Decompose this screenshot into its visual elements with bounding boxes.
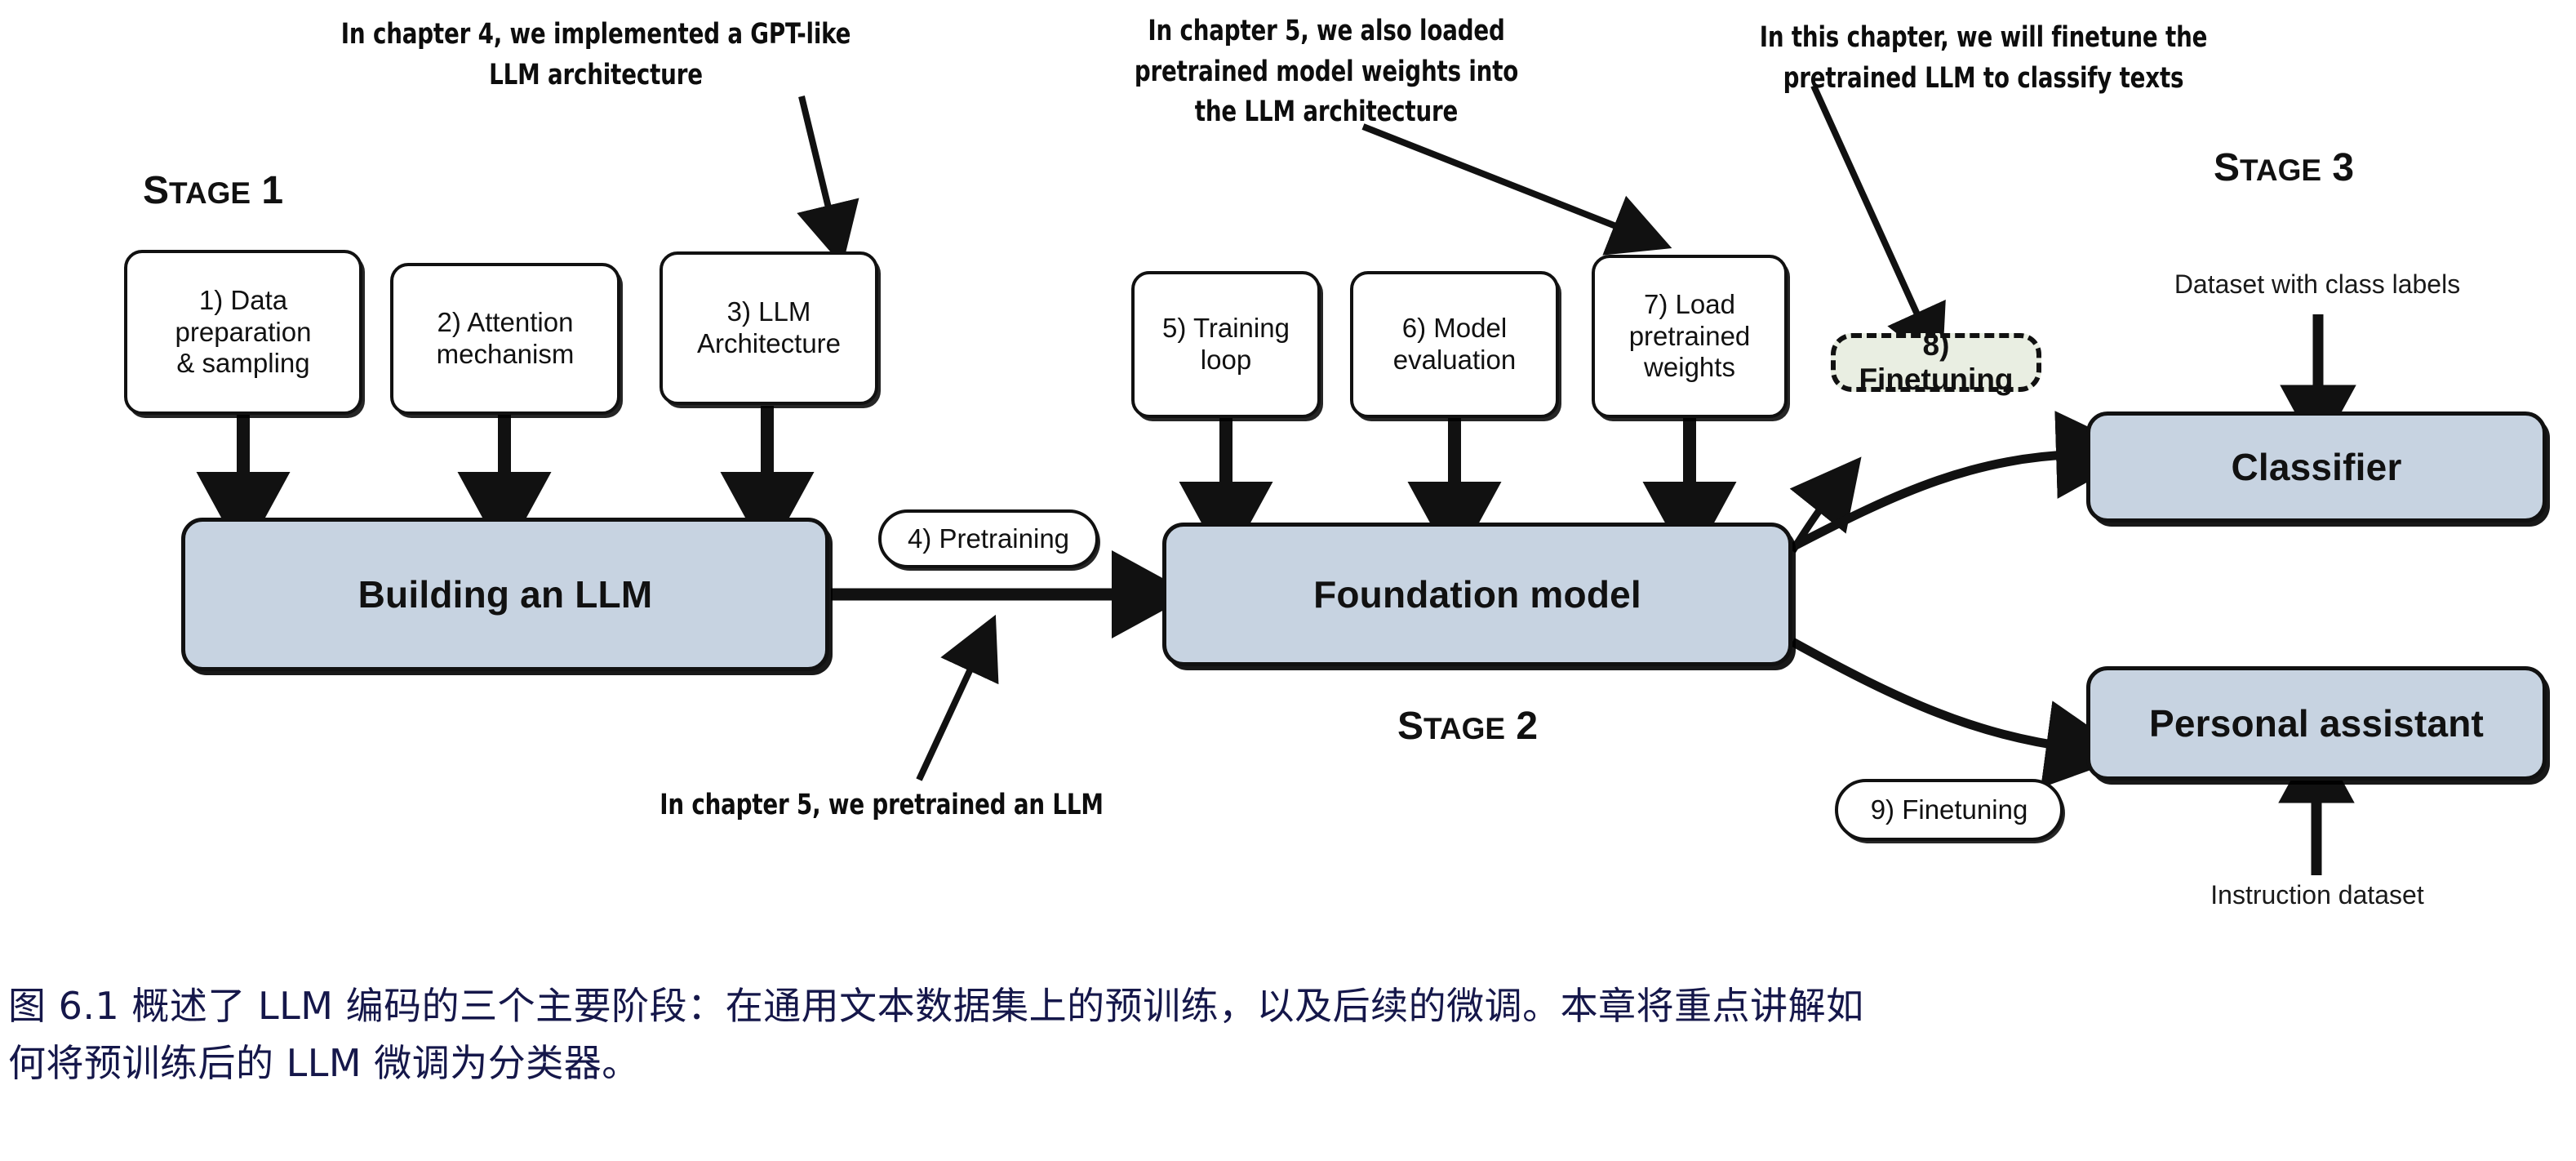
annotation-chapter5-weights-line1: In chapter 5, we also loaded — [1075, 11, 1578, 52]
finetuning-9-badge[interactable]: 9) Finetuning — [1835, 779, 2063, 841]
step-card-training-loop[interactable]: 5) Training loop — [1131, 271, 1321, 418]
step-card-training-loop-line1: 5) Training — [1162, 313, 1290, 345]
blue-box-personal-assistant[interactable]: Personal assistant — [2086, 666, 2547, 781]
blue-box-foundation-model[interactable]: Foundation model — [1162, 523, 1792, 666]
step-card-model-evaluation-line2: evaluation — [1393, 345, 1516, 376]
blue-box-classifier[interactable]: Classifier — [2086, 411, 2547, 523]
step-card-attention-mechanism-line2: mechanism — [437, 339, 575, 371]
annotation-this-chapter-line2: pretrained LLM to classify texts — [1729, 59, 2239, 100]
step-card-load-pretrained-weights-line1: 7) Load — [1644, 289, 1735, 321]
step-card-attention-mechanism-line1: 2) Attention — [437, 307, 574, 339]
stage-label-1-number: 1 — [261, 169, 283, 212]
step-card-load-pretrained-weights[interactable]: 7) Load pretrained weights — [1592, 255, 1788, 418]
annotation-chapter5-weights-line2: pretrained model weights into — [1075, 52, 1578, 93]
step-card-data-preparation-line3: & sampling — [176, 348, 309, 380]
step-card-data-preparation-line2: preparation — [175, 317, 312, 349]
stage-label-2-number: 2 — [1516, 705, 1538, 748]
figure-caption-line2: 何将预训练后的 LLM 微调为分类器。 — [8, 1035, 2555, 1092]
annotation-this-chapter: In this chapter, we will finetune the pr… — [1729, 18, 2239, 99]
figure-caption-line1: 图 6.1 概述了 LLM 编码的三个主要阶段：在通用文本数据集上的预训练，以及… — [8, 978, 2555, 1035]
caption-dataset-class-labels: Dataset with class labels — [2086, 269, 2548, 300]
blue-box-personal-assistant-label: Personal assistant — [2149, 701, 2484, 745]
arrow-foundation-to-finetuning8 — [1792, 494, 1832, 551]
figure-llm-stages-diagram: In chapter 4, we implemented a GPT-like … — [0, 0, 2576, 947]
annotation-chapter4: In chapter 4, we implemented a GPT-like … — [309, 15, 883, 96]
annotation-this-chapter-line1: In this chapter, we will finetune the — [1729, 18, 2239, 59]
annotation-chapter5-weights-line3: the LLM architecture — [1075, 92, 1578, 133]
figure-caption: 图 6.1 概述了 LLM 编码的三个主要阶段：在通用文本数据集上的预训练，以及… — [8, 978, 2555, 1092]
stage-label-3-initial: S — [2214, 146, 2240, 189]
arrow-foundation-to-classifier — [1792, 454, 2083, 547]
arrow-foundation-to-personal-assistant — [1792, 642, 2073, 748]
annotation-chapter5-weights: In chapter 5, we also loaded pretrained … — [1075, 11, 1578, 133]
blue-box-foundation-model-label: Foundation model — [1313, 572, 1641, 616]
stage-label-3-rest: TAGE — [2240, 153, 2321, 187]
stage-label-1: STAGE 1 — [143, 168, 283, 213]
step-card-llm-architecture-line2: Architecture — [697, 328, 841, 360]
step-card-training-loop-line2: loop — [1201, 345, 1251, 376]
annotation-chapter4-line1: In chapter 4, we implemented a GPT-like — [309, 15, 883, 56]
leader-thischapter-to-finetuning8 — [1814, 86, 1925, 331]
step-card-llm-architecture[interactable]: 3) LLM Architecture — [660, 251, 878, 405]
pretraining-badge[interactable]: 4) Pretraining — [878, 509, 1099, 568]
stage-label-3: STAGE 3 — [2214, 145, 2354, 190]
stage-label-2-rest: TAGE — [1423, 712, 1505, 745]
caption-dataset-class-labels-text: Dataset with class labels — [2174, 269, 2460, 299]
annotation-chapter5-pretrain-line1: In chapter 5, we pretrained an LLM — [609, 785, 1155, 826]
leader-ch4-to-step3 — [802, 96, 833, 225]
step-card-load-pretrained-weights-line3: weights — [1644, 352, 1735, 384]
blue-box-classifier-label: Classifier — [2231, 445, 2401, 489]
caption-instruction-dataset-text: Instruction dataset — [2210, 880, 2423, 910]
step-card-model-evaluation[interactable]: 6) Model evaluation — [1350, 271, 1559, 418]
annotation-chapter5-pretrain: In chapter 5, we pretrained an LLM — [609, 785, 1155, 826]
step-card-data-preparation-line1: 1) Data — [199, 285, 287, 317]
finetuning-9-label: 9) Finetuning — [1871, 794, 2028, 825]
leader-ch5pretrain-to-pretraining — [919, 653, 978, 780]
step-card-model-evaluation-line1: 6) Model — [1402, 313, 1507, 345]
stage-label-1-rest: TAGE — [169, 176, 251, 210]
blue-box-building-an-llm-label: Building an LLM — [358, 572, 653, 616]
leader-ch5weights-to-step7 — [1363, 127, 1632, 233]
stage-label-2: STAGE 2 — [1397, 704, 1538, 749]
step-card-load-pretrained-weights-line2: pretrained — [1629, 321, 1751, 353]
blue-box-building-an-llm[interactable]: Building an LLM — [181, 518, 829, 671]
stage-label-2-initial: S — [1397, 705, 1423, 748]
step-card-llm-architecture-line1: 3) LLM — [727, 296, 811, 328]
stage-label-1-initial: S — [143, 169, 169, 212]
step-card-data-preparation[interactable]: 1) Data preparation & sampling — [124, 250, 362, 415]
step-card-attention-mechanism[interactable]: 2) Attention mechanism — [390, 263, 620, 415]
finetuning-8-label: 8) Finetuning — [1844, 328, 2028, 397]
pretraining-badge-label: 4) Pretraining — [908, 523, 1069, 554]
stage-label-3-number: 3 — [2332, 146, 2354, 189]
finetuning-8-badge[interactable]: 8) Finetuning — [1831, 333, 2041, 392]
caption-instruction-dataset: Instruction dataset — [2086, 880, 2548, 910]
annotation-chapter4-line2: LLM architecture — [309, 56, 883, 96]
